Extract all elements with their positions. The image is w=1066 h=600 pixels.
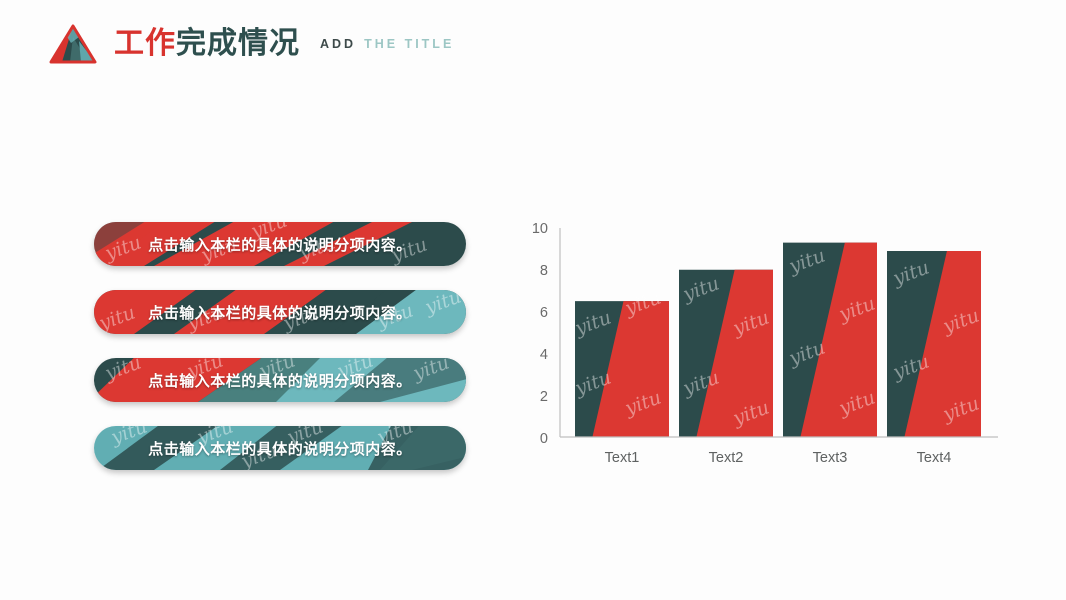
page-subtitle: ADD THE TITLE xyxy=(320,37,454,51)
list-item-label: 点击输入本栏的具体的说明分项内容。 xyxy=(94,426,466,470)
y-axis: 10 8 6 4 2 0 xyxy=(532,221,560,447)
list-item[interactable]: yitu yitu yitu yitu yitu 点击输入本栏的具体的说明分项内… xyxy=(94,222,466,266)
list-item[interactable]: yitu yitu yitu yitu yitu 点击输入本栏的具体的说明分项内… xyxy=(94,290,466,334)
y-tick-4: 4 xyxy=(540,347,548,363)
list-item-label: 点击输入本栏的具体的说明分项内容。 xyxy=(94,358,466,402)
x-axis-labels: Text1 Text2 Text3 Text4 xyxy=(605,450,952,466)
bar-chart: 10 8 6 4 2 0 yitu yitu yitu yitu yitu yi… xyxy=(520,215,1020,480)
page-title: 工作完成情况 xyxy=(114,29,300,59)
page-title-red: 工作 xyxy=(114,26,176,61)
y-tick-6: 6 xyxy=(540,305,548,321)
x-tick-1: Text2 xyxy=(709,450,744,466)
y-tick-10: 10 xyxy=(532,221,548,237)
y-tick-2: 2 xyxy=(540,389,548,405)
bullet-list: yitu yitu yitu yitu yitu 点击输入本栏的具体的说明分项内… xyxy=(94,222,466,494)
mountain-triangle-logo xyxy=(48,23,98,65)
subtitle-strong: ADD xyxy=(320,37,356,51)
list-item[interactable]: yitu yitu yitu yitu yitu 点击输入本栏的具体的说明分项内… xyxy=(94,358,466,402)
y-tick-0: 0 xyxy=(540,431,548,447)
x-tick-0: Text1 xyxy=(605,450,640,466)
slide-canvas: 工作完成情况 ADD THE TITLE yitu yitu yitu yitu xyxy=(0,0,1066,600)
list-item-label: 点击输入本栏的具体的说明分项内容。 xyxy=(94,290,466,334)
x-tick-3: Text4 xyxy=(917,450,952,466)
page-title-dark: 完成情况 xyxy=(176,26,300,61)
x-tick-2: Text3 xyxy=(813,450,848,466)
list-item-label: 点击输入本栏的具体的说明分项内容。 xyxy=(94,222,466,266)
bar-text4 xyxy=(877,215,1020,480)
y-tick-8: 8 xyxy=(540,263,548,279)
subtitle-light: THE TITLE xyxy=(364,37,454,51)
list-item[interactable]: yitu yitu yitu yitu yitu 点击输入本栏的具体的说明分项内… xyxy=(94,426,466,470)
slide-header: 工作完成情况 ADD THE TITLE xyxy=(48,22,454,66)
